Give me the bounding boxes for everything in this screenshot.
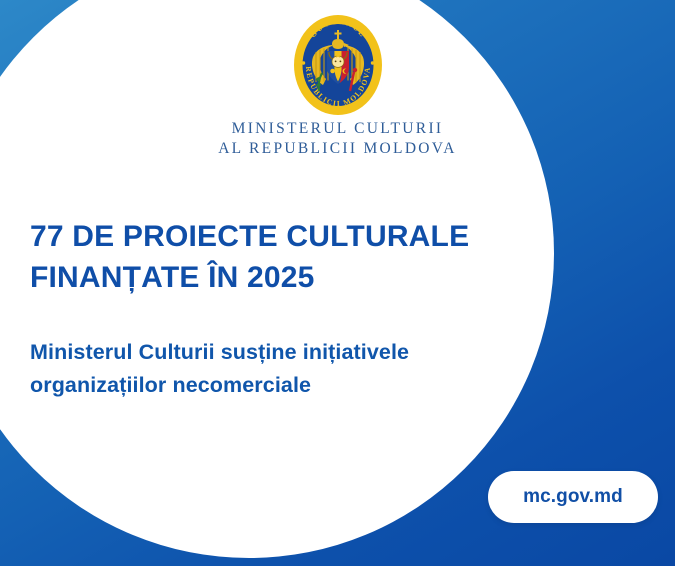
subtitle: Ministerul Culturii susține inițiativele… [30, 336, 510, 402]
emblem-container: GUVERNUL REPUBLICII MOLDOVA [0, 13, 675, 117]
headline-line2: FINANȚATE ÎN 2025 [30, 257, 500, 298]
headline: 77 DE PROIECTE CULTURALE FINANȚATE ÎN 20… [30, 216, 500, 298]
poster-canvas: GUVERNUL REPUBLICII MOLDOVA [0, 0, 675, 566]
subtitle-line1: Ministerul Culturii susține inițiativele [30, 340, 409, 364]
ministry-name-line1: MINISTERUL CULTURII [232, 120, 444, 137]
ministry-name-line2: AL REPUBLICII MOLDOVA [0, 139, 675, 159]
subtitle-line2: organizațiilor necomerciale [30, 369, 510, 402]
website-url-badge[interactable]: mc.gov.md [488, 471, 658, 523]
poster-content: GUVERNUL REPUBLICII MOLDOVA [0, 0, 675, 566]
website-url-label: mc.gov.md [523, 486, 623, 508]
ministry-name: MINISTERUL CULTURII AL REPUBLICII MOLDOV… [0, 119, 675, 159]
state-emblem-icon: GUVERNUL REPUBLICII MOLDOVA [289, 13, 387, 117]
headline-line1: 77 DE PROIECTE CULTURALE [30, 220, 469, 253]
